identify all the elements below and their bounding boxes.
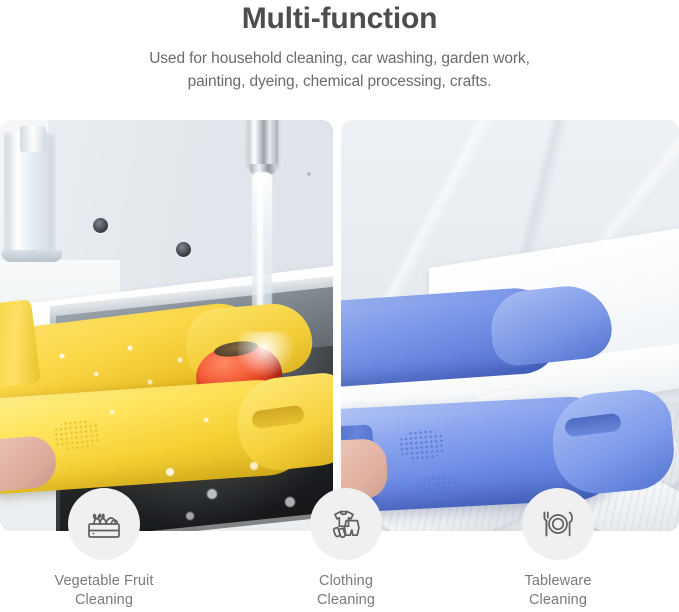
feature-label: Tableware Cleaning	[463, 572, 653, 610]
kitchen-sink-photo	[0, 120, 333, 531]
header: Multi-function Used for household cleani…	[0, 0, 679, 120]
photo-panel-clothes-washing	[341, 120, 679, 531]
page-subtitle: Used for household cleaning, car washing…	[0, 36, 679, 93]
clothing-icon	[310, 488, 382, 560]
subtitle-line-2: painting, dyeing, chemical processing, c…	[0, 70, 679, 93]
feature-label: Clothing Cleaning	[251, 572, 441, 610]
photo-panel-vegetable-washing	[0, 120, 333, 531]
feature-label: Vegetable Fruit Cleaning	[9, 572, 199, 610]
feature-item-clothing-cleaning: Clothing Cleaning	[251, 488, 441, 610]
feature-item-vegetable-fruit-cleaning: Vegetable Fruit Cleaning	[9, 488, 199, 610]
feature-item-tableware-cleaning: Tableware Cleaning	[463, 488, 653, 610]
tableware-icon	[522, 488, 594, 560]
subtitle-line-1: Used for household cleaning, car washing…	[0, 47, 679, 70]
vegetable-crate-icon	[68, 488, 140, 560]
page-title: Multi-function	[0, 0, 679, 36]
feature-list: Vegetable Fruit Cleaning Clothing Cleani…	[0, 488, 679, 612]
photo-panels	[0, 120, 679, 532]
product-feature-page: Multi-function Used for household cleani…	[0, 0, 679, 612]
laundry-basin-photo	[341, 120, 679, 531]
